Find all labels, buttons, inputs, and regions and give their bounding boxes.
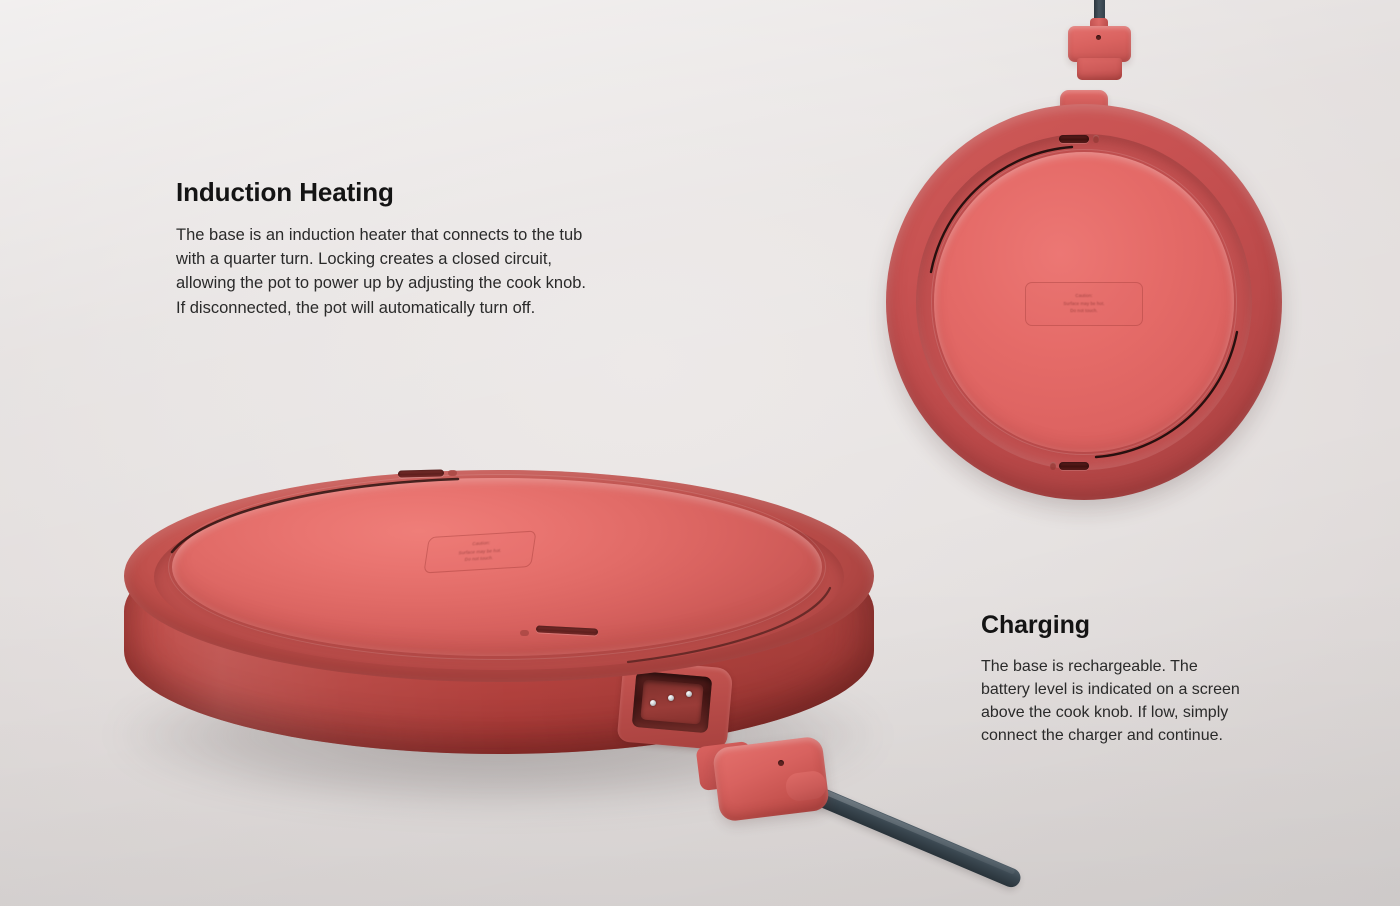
induction-heating-body: The base is an induction heater that con…	[176, 223, 646, 321]
base-top-locking-slot-upper	[1059, 135, 1089, 143]
base-top-caution-label-plate: Caution: Surface may be hot. Do not touc…	[1025, 282, 1143, 326]
charging-contact-pin-3	[686, 691, 692, 697]
magnetic-charger-plug-connected	[690, 736, 990, 906]
induction-heating-heading: Induction Heating	[176, 178, 646, 207]
charger-plug-body	[1068, 26, 1131, 62]
caution-label-line-2: Surface may be hot.	[1063, 302, 1104, 306]
charger-plug-contact-tip	[1077, 58, 1122, 80]
base-hero-locking-slot-far	[398, 469, 444, 477]
base-hero-locking-pin-near	[520, 630, 529, 636]
induction-heating-text-block: Induction Heating The base is an inducti…	[176, 178, 646, 320]
base-hero-locking-pin-far	[448, 470, 457, 476]
induction-base-top-view-render: Caution: Surface may be hot. Do not touc…	[878, 96, 1290, 508]
caution-label-line-1: Caution:	[1075, 294, 1092, 298]
caution-label-line-3: Do not touch.	[464, 556, 493, 562]
magnetic-charger-plug-detached	[1054, 0, 1150, 96]
base-top-locking-pin-upper	[1093, 135, 1099, 143]
charger-cable-highlight	[811, 784, 1015, 875]
caution-label-line-1: Caution:	[472, 541, 491, 547]
base-top-locking-pin-lower	[1050, 462, 1056, 470]
caution-label-line-3: Do not touch.	[1070, 309, 1097, 313]
charging-body: The base is rechargeable. The battery le…	[981, 655, 1281, 748]
base-hero-bayonet-grooves	[158, 476, 840, 672]
charger-plug-indicator-dot	[778, 760, 784, 766]
charging-contact-pin-1	[650, 700, 656, 706]
caution-label-line-2: Surface may be hot.	[458, 548, 502, 555]
product-presentation-canvas: Caution: Surface may be hot. Do not touc…	[0, 0, 1400, 906]
base-top-locking-slot-lower	[1059, 462, 1089, 470]
charging-text-block: Charging The base is rechargeable. The b…	[981, 612, 1281, 747]
charger-plug-indicator-dot	[1096, 35, 1101, 40]
charging-heading: Charging	[981, 612, 1281, 640]
base-hero-caution-label-plate: Caution: Surface may be hot. Do not touc…	[423, 531, 536, 574]
charging-contact-pin-2	[668, 695, 674, 701]
